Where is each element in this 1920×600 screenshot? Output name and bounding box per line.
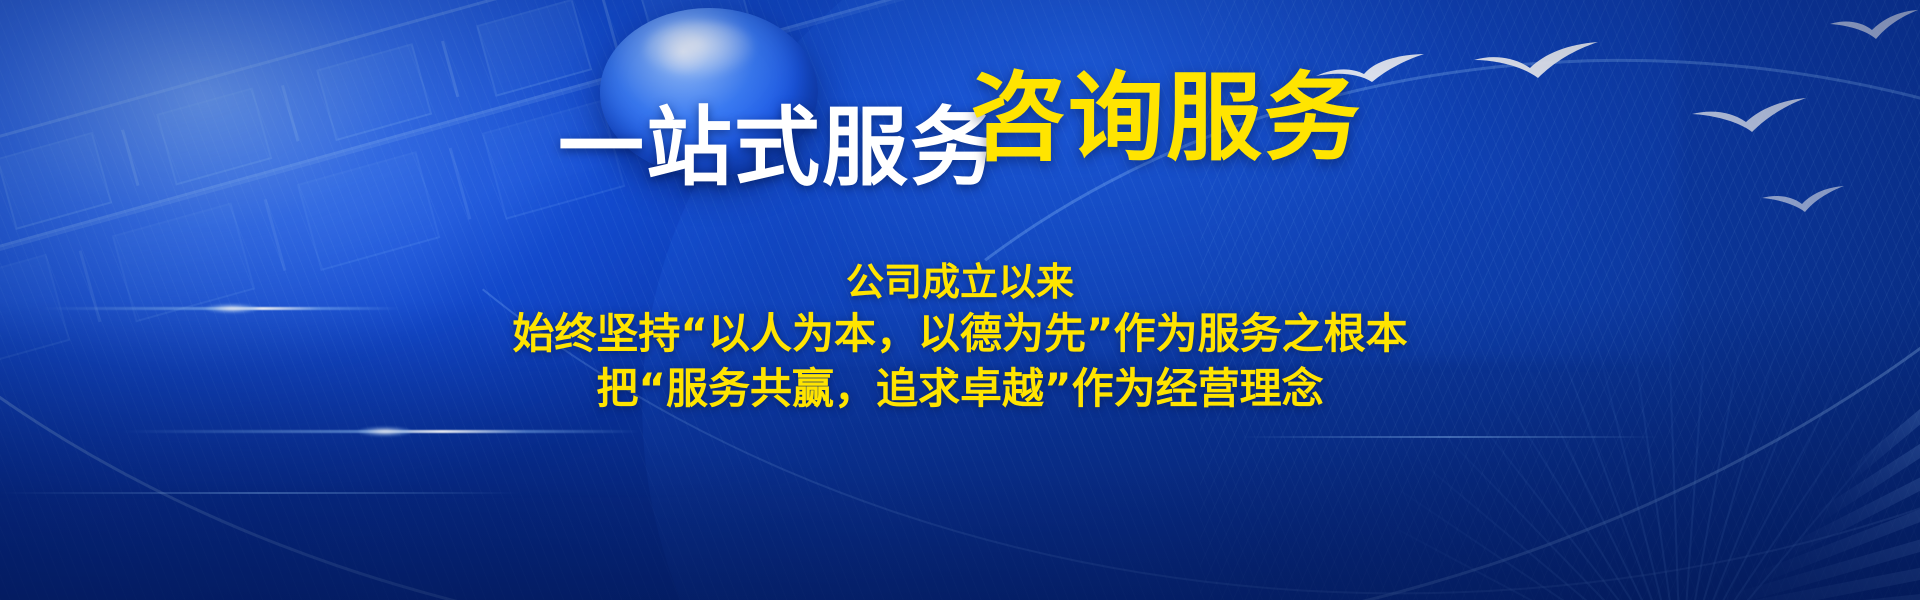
headline-primary-text: 一站式服务 xyxy=(558,105,998,191)
headline: 一站式服务咨询服务 xyxy=(0,96,1920,192)
subcopy-line-1: 公司成立以来 xyxy=(0,258,1920,307)
subcopy-line-3: 把“服务共赢，追求卓越”作为经营理念 xyxy=(0,362,1920,417)
subcopy-line-2: 始终坚持“以人为本，以德为先”作为服务之根本 xyxy=(0,307,1920,362)
headline-accent-text: 咨询服务 xyxy=(970,70,1362,166)
subcopy-block: 公司成立以来 始终坚持“以人为本，以德为先”作为服务之根本 把“服务共赢，追求卓… xyxy=(0,258,1920,417)
promo-banner: 一站式服务咨询服务 公司成立以来 始终坚持“以人为本，以德为先”作为服务之根本 … xyxy=(0,0,1920,600)
banner-content: 一站式服务咨询服务 公司成立以来 始终坚持“以人为本，以德为先”作为服务之根本 … xyxy=(0,0,1920,600)
